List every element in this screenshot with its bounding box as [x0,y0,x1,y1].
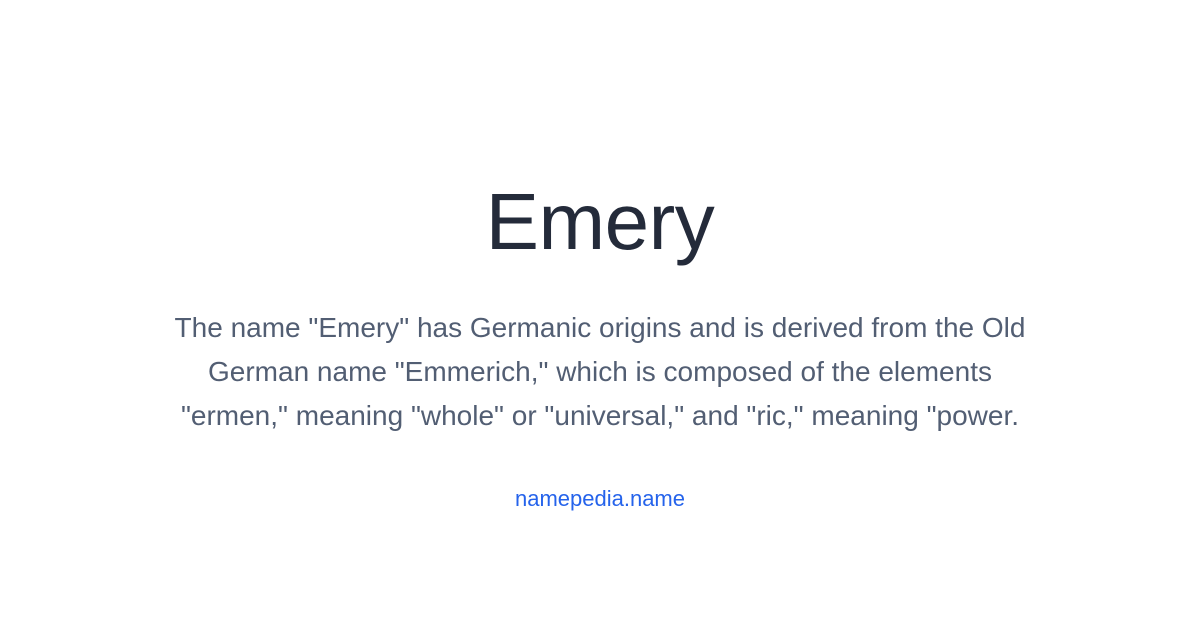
open-graph-card: Emery The name "Emery" has Germanic orig… [0,0,1200,630]
page-title: Emery [486,0,715,262]
name-description: The name "Emery" has Germanic origins an… [170,306,1030,438]
card-content: Emery The name "Emery" has Germanic orig… [160,0,1040,512]
site-link[interactable]: namepedia.name [515,486,685,512]
